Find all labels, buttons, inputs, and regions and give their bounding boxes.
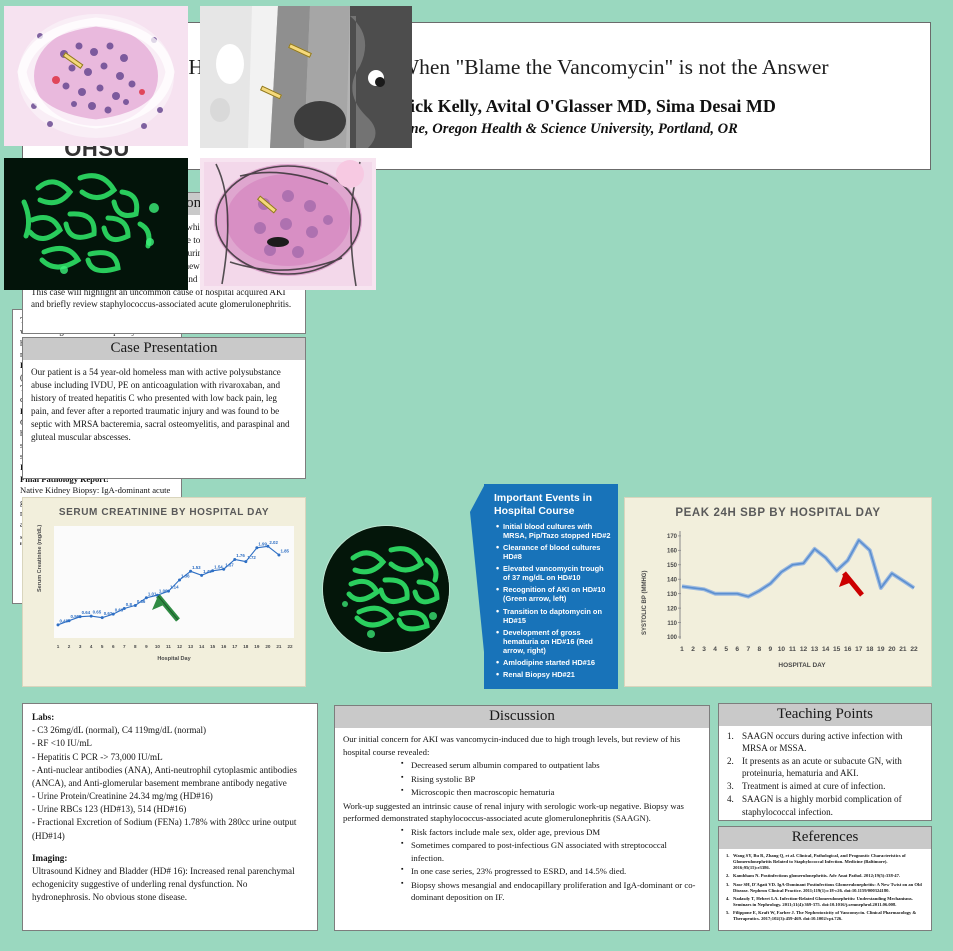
references-panel: References Wang SY, Bu R, Zhang Q, et al… (718, 826, 932, 931)
list-item: Wang SY, Bu R, Zhang Q, et al. Clinical,… (726, 853, 925, 871)
references-list: Wang SY, Bu R, Zhang Q, et al. Clinical,… (719, 849, 931, 922)
list-item: Amlodipine started HD#16 (496, 658, 612, 667)
important-events-title: Important Events in Hospital Course (484, 484, 618, 520)
svg-text:170: 170 (667, 534, 678, 540)
labs-heading: Labs: (32, 712, 54, 722)
case-presentation-panel: Case Presentation Our patient is a 54 ye… (22, 337, 306, 479)
lab-line: - Hepatitis C PCR -> 73,000 IU/mL (32, 751, 308, 764)
list-item: Decreased serum albumin compared to outp… (401, 759, 701, 772)
svg-text:16: 16 (844, 646, 852, 653)
svg-text:1.06: 1.06 (159, 589, 168, 594)
peak-sbp-plot: SYSTOLIC BP (MMHG) 100110120130140150160… (634, 525, 922, 669)
svg-text:140: 140 (667, 577, 678, 583)
svg-text:18: 18 (243, 644, 249, 649)
list-item: Treatment is aimed at cure of infection. (726, 780, 925, 792)
list-item: Development of gross hematuria on HD#16 … (496, 628, 612, 655)
svg-text:13: 13 (811, 646, 819, 653)
serum-creatinine-chart-title: SERUM CREATININE BY HOSPITAL DAY (23, 498, 305, 518)
discussion-intro: Our initial concern for AKI was vancomyc… (343, 733, 701, 758)
svg-text:0.69: 0.69 (115, 608, 124, 613)
svg-text:7: 7 (123, 644, 126, 649)
svg-text:17: 17 (232, 644, 238, 649)
svg-text:9: 9 (145, 644, 148, 649)
micrograph-top-left-he-stain (4, 6, 188, 146)
svg-text:0.48: 0.48 (60, 618, 69, 623)
serum-creatinine-chart-panel: SERUM CREATININE BY HOSPITAL DAY Serum C… (22, 497, 306, 687)
svg-text:0.8: 0.8 (126, 602, 133, 607)
svg-text:0.65: 0.65 (93, 610, 102, 615)
list-item: Initial blood cultures with MRSA, Pip/Ta… (496, 522, 612, 540)
svg-text:6: 6 (735, 646, 739, 653)
svg-text:1.36: 1.36 (181, 573, 190, 578)
labs-panel: Labs: - C3 26mg/dL (normal), C4 119mg/dL… (22, 703, 318, 931)
lab-line: - Urine RBCs 123 (HD#13), 514 (HD#16) (32, 803, 308, 816)
list-item: Recognition of AKI on HD#10 (Green arrow… (496, 585, 612, 603)
svg-text:0.64: 0.64 (82, 610, 91, 615)
lab-line: - Urine Protein/Creatinine 24.34 mg/mg (… (32, 790, 308, 803)
svg-text:150: 150 (667, 563, 678, 569)
list-item: Risk factors include male sex, older age… (401, 826, 701, 839)
labs-content: Labs: - C3 26mg/dL (normal), C4 119mg/dL… (23, 704, 317, 911)
svg-text:15: 15 (210, 644, 216, 649)
svg-text:12: 12 (177, 644, 183, 649)
svg-text:15: 15 (833, 646, 841, 653)
important-events-body: Important Events in Hospital Course Init… (484, 484, 618, 689)
svg-text:2: 2 (68, 644, 71, 649)
teaching-points-heading: Teaching Points (719, 704, 931, 726)
svg-text:13: 13 (188, 644, 194, 649)
discussion-heading: Discussion (335, 706, 709, 728)
svg-text:5: 5 (724, 646, 728, 653)
svg-text:19: 19 (254, 644, 260, 649)
lab-line: - RF <10 IU/mL (32, 737, 308, 750)
case-presentation-text: Our patient is a 54 year-old homeless ma… (23, 360, 305, 447)
svg-text:1.45: 1.45 (203, 569, 212, 574)
svg-text:110: 110 (667, 621, 677, 627)
list-item: SAAGN is a highly morbid complication of… (726, 793, 925, 817)
list-item: Renal Biopsy HD#21 (496, 670, 612, 679)
svg-text:1.14: 1.14 (170, 585, 179, 590)
svg-text:2: 2 (691, 646, 695, 653)
svg-text:9: 9 (769, 646, 773, 653)
svg-text:7: 7 (746, 646, 750, 653)
callout-pointer (470, 484, 485, 662)
lab-line: - Fractional Excretion of Sodium (FENa) … (32, 816, 308, 842)
svg-text:10: 10 (778, 646, 786, 653)
svg-text:4: 4 (713, 646, 717, 653)
micrograph-bottom-left-iga-if (4, 158, 188, 290)
micrograph-top-right-electron (200, 6, 412, 148)
svg-text:4: 4 (90, 644, 93, 649)
svg-text:19: 19 (877, 646, 885, 653)
list-item: Filippone E, Kraft W, Farber J. The Neph… (726, 910, 925, 922)
references-heading: References (719, 827, 931, 849)
discussion-bullets-2: Risk factors include male sex, older age… (343, 826, 701, 904)
svg-text:1: 1 (680, 646, 684, 653)
svg-text:12: 12 (800, 646, 808, 653)
svg-text:0.86: 0.86 (137, 599, 146, 604)
svg-text:18: 18 (866, 646, 874, 653)
imaging-heading: Imaging: (32, 853, 67, 863)
svg-text:17: 17 (855, 646, 863, 653)
svg-text:20: 20 (888, 646, 896, 653)
important-events-callout: Important Events in Hospital Course Init… (470, 484, 618, 689)
svg-text:3: 3 (79, 644, 82, 649)
svg-text:8: 8 (757, 646, 761, 653)
list-item: Elevated vancomycin trough of 37 mg/dL o… (496, 564, 612, 582)
svg-text:16: 16 (221, 644, 227, 649)
peak-sbp-ylabel: SYSTOLIC BP (MMHG) (642, 571, 648, 635)
svg-text:1.54: 1.54 (214, 564, 223, 569)
serum-creatinine-plot: Serum Creatinine (mg/dL) 0.480.560.640.6… (32, 524, 296, 668)
svg-text:1.85: 1.85 (280, 548, 289, 553)
svg-text:22: 22 (910, 646, 918, 653)
svg-text:8: 8 (134, 644, 137, 649)
discussion-content: Our initial concern for AKI was vancomyc… (335, 728, 709, 910)
lab-line: - Anti-nuclear antibodies (ANA), Anti-ne… (32, 764, 308, 790)
peak-sbp-chart-title: PEAK 24H SBP BY HOSPITAL DAY (625, 498, 931, 519)
lab-line: - C3 26mg/dL (normal), C4 119mg/dL (norm… (32, 724, 308, 737)
svg-text:0.56: 0.56 (71, 614, 80, 619)
svg-text:10: 10 (155, 644, 161, 649)
serum-creatinine-svg: Serum Creatinine (mg/dL) 0.480.560.640.6… (32, 524, 298, 664)
list-item: Clearance of blood cultures HD#8 (496, 543, 612, 561)
svg-text:1.53: 1.53 (192, 565, 201, 570)
svg-text:1.99: 1.99 (258, 541, 267, 546)
serum-creatinine-xlabel: Hospital Day (157, 656, 191, 662)
list-item: Transition to daptomycin on HD#15 (496, 607, 612, 625)
svg-text:100: 100 (667, 635, 678, 641)
svg-text:1.01: 1.01 (148, 591, 157, 596)
micrograph-bottom-right-jones-silver (200, 158, 376, 290)
svg-text:22: 22 (287, 644, 293, 649)
discussion-panel: Discussion Our initial concern for AKI w… (334, 705, 710, 931)
list-item: In one case series, 23% progressed to ES… (401, 865, 701, 878)
svg-text:1: 1 (57, 644, 60, 649)
list-item: Kambham N. Postinfectious glomerulonephr… (726, 873, 925, 879)
svg-text:1.57: 1.57 (225, 563, 234, 568)
peak-sbp-svg: SYSTOLIC BP (MMHG) 100110120130140150160… (634, 525, 924, 671)
important-events-list: Initial blood cultures with MRSA, Pip/Ta… (484, 520, 618, 678)
svg-text:2.02: 2.02 (269, 540, 278, 545)
svg-text:14: 14 (822, 646, 830, 653)
svg-text:21: 21 (276, 644, 282, 649)
svg-text:3: 3 (702, 646, 706, 653)
teaching-points-panel: Teaching Points SAAGN occurs during acti… (718, 703, 932, 821)
list-item: Biopsy shows mesangial and endocapillary… (401, 879, 701, 904)
svg-text:11: 11 (789, 646, 796, 653)
micrograph-grid (4, 6, 442, 291)
svg-text:14: 14 (199, 644, 205, 649)
imaging-text: Ultrasound Kidney and Bladder (HD# 16): … (32, 865, 308, 905)
peak-sbp-xlabel: HOSPITAL DAY (778, 662, 826, 669)
teaching-points-list: SAAGN occurs during active infection wit… (719, 726, 931, 818)
discussion-mid: Work-up suggested an intrinsic cause of … (343, 800, 701, 825)
case-presentation-heading: Case Presentation (23, 338, 305, 360)
list-item: Nasr SH, D'Agati VD. IgA-Dominant Postin… (726, 882, 925, 894)
discussion-bullets-1: Decreased serum albumin compared to outp… (343, 759, 701, 799)
svg-text:130: 130 (667, 592, 678, 598)
list-item: SAAGN occurs during active infection wit… (726, 730, 925, 754)
list-item: Microscopic then macroscopic hematuria (401, 786, 701, 799)
poster-canvas: OHSU Hospital Acquired AKI: When "Blame … (0, 0, 953, 951)
red-arrow-annotation (839, 573, 862, 595)
svg-text:1.72: 1.72 (247, 555, 256, 560)
list-item: Rising systolic BP (401, 773, 701, 786)
list-item: It presents as an acute or subacute GN, … (726, 755, 925, 779)
svg-text:160: 160 (667, 549, 678, 555)
peak-sbp-chart-panel: PEAK 24H SBP BY HOSPITAL DAY SYSTOLIC BP… (624, 497, 932, 687)
svg-text:1.76: 1.76 (236, 553, 245, 558)
svg-text:20: 20 (265, 644, 271, 649)
list-item: Sometimes compared to post-infectious GN… (401, 839, 701, 864)
svg-text:21: 21 (899, 646, 907, 653)
c3-immunofluorescence-insert (322, 525, 450, 653)
svg-text:11: 11 (166, 644, 171, 649)
svg-text:5: 5 (101, 644, 104, 649)
list-item: Nadasdy T, Hebert LA. Infection-Related … (726, 896, 925, 908)
svg-text:0.62: 0.62 (104, 611, 113, 616)
svg-text:120: 120 (667, 606, 678, 612)
serum-creatinine-ylabel: Serum Creatinine (mg/dL) (37, 525, 43, 592)
svg-text:6: 6 (112, 644, 115, 649)
